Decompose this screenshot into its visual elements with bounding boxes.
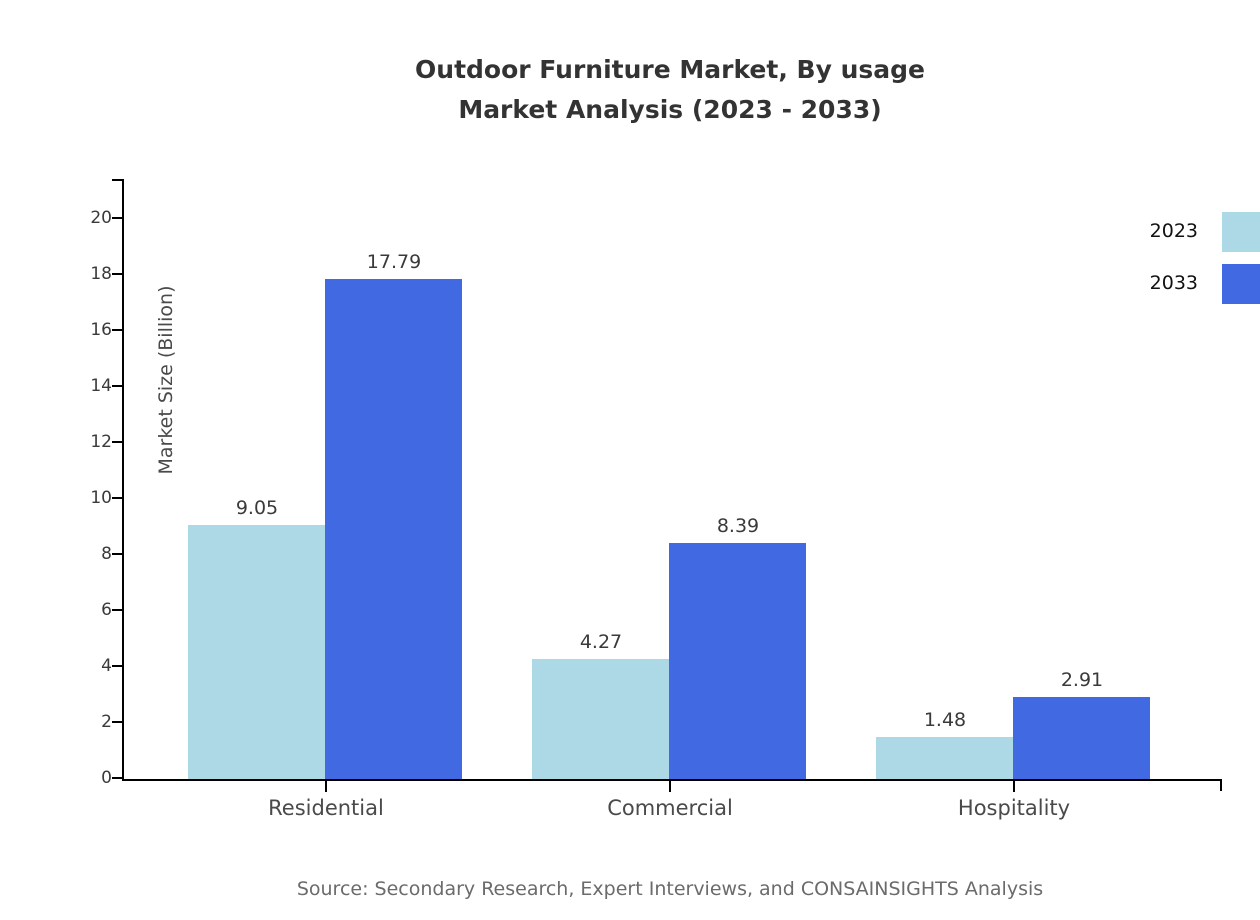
x-tick-label-residential: Residential — [176, 795, 476, 821]
y-tick-label-0: 0 — [52, 770, 112, 787]
bar-label-hospitality-2033: 2.91 — [1002, 669, 1162, 691]
bar-commercial-2033[interactable] — [669, 543, 806, 779]
bar-commercial-2023[interactable] — [532, 659, 669, 779]
y-tick-0 — [112, 777, 122, 779]
chart-title-line-1: Outdoor Furniture Market, By usage — [0, 50, 1260, 90]
legend-item-2023[interactable]: 2023 — [1120, 212, 1260, 252]
x-tick-commercial — [669, 781, 671, 792]
y-tick-6 — [112, 609, 122, 611]
y-tick-label-18: 18 — [52, 266, 112, 283]
y-tick-label-4: 4 — [52, 658, 112, 675]
legend-label-2023: 2023 — [1150, 220, 1198, 242]
x-axis-line — [122, 779, 1222, 781]
bar-hospitality-2023[interactable] — [876, 737, 1013, 779]
bar-label-residential-2033: 17.79 — [314, 251, 474, 273]
y-tick-label-16: 16 — [52, 322, 112, 339]
x-tick-residential — [325, 781, 327, 792]
chart-title: Outdoor Furniture Market, By usage Marke… — [0, 50, 1260, 130]
plot-area: Market Size (Billion) 0 2 4 6 8 10 12 14… — [122, 179, 1222, 781]
y-tick-label-10: 10 — [52, 490, 112, 507]
y-tick-18 — [112, 273, 122, 275]
y-tick-label-2: 2 — [52, 714, 112, 731]
y-tick-label-14: 14 — [52, 378, 112, 395]
bar-label-commercial-2033: 8.39 — [658, 515, 818, 537]
y-tick-2 — [112, 721, 122, 723]
y-tick-label-8: 8 — [52, 546, 112, 563]
y-axis-top-cap — [112, 179, 124, 181]
y-axis-label: Market Size (Billion) — [155, 250, 177, 510]
y-axis-line — [122, 179, 124, 781]
legend-label-2033: 2033 — [1150, 272, 1198, 294]
y-tick-16 — [112, 329, 122, 331]
y-tick-label-6: 6 — [52, 602, 112, 619]
bar-residential-2033[interactable] — [325, 279, 462, 779]
bar-chart: Outdoor Furniture Market, By usage Marke… — [0, 0, 1260, 920]
chart-legend: 2023 2033 — [1120, 212, 1260, 304]
legend-item-2033[interactable]: 2033 — [1120, 264, 1260, 304]
y-tick-4 — [112, 665, 122, 667]
y-tick-10 — [112, 497, 122, 499]
y-tick-12 — [112, 441, 122, 443]
y-tick-20 — [112, 217, 122, 219]
source-note: Source: Secondary Research, Expert Inter… — [0, 878, 1260, 900]
x-tick-label-commercial: Commercial — [520, 795, 820, 821]
chart-title-line-2: Market Analysis (2023 - 2033) — [0, 90, 1260, 130]
x-axis-right-cap — [1220, 779, 1222, 791]
y-tick-8 — [112, 553, 122, 555]
bar-hospitality-2033[interactable] — [1013, 697, 1150, 779]
y-tick-label-12: 12 — [52, 434, 112, 451]
legend-swatch-2033 — [1222, 264, 1260, 304]
bar-label-hospitality-2023: 1.48 — [865, 709, 1025, 731]
y-tick-14 — [112, 385, 122, 387]
legend-swatch-2023 — [1222, 212, 1260, 252]
bar-residential-2023[interactable] — [188, 525, 325, 779]
x-tick-label-hospitality: Hospitality — [864, 795, 1164, 821]
y-tick-label-20: 20 — [52, 210, 112, 227]
bar-label-residential-2023: 9.05 — [177, 497, 337, 519]
bar-label-commercial-2023: 4.27 — [521, 631, 681, 653]
x-tick-hospitality — [1013, 781, 1015, 792]
